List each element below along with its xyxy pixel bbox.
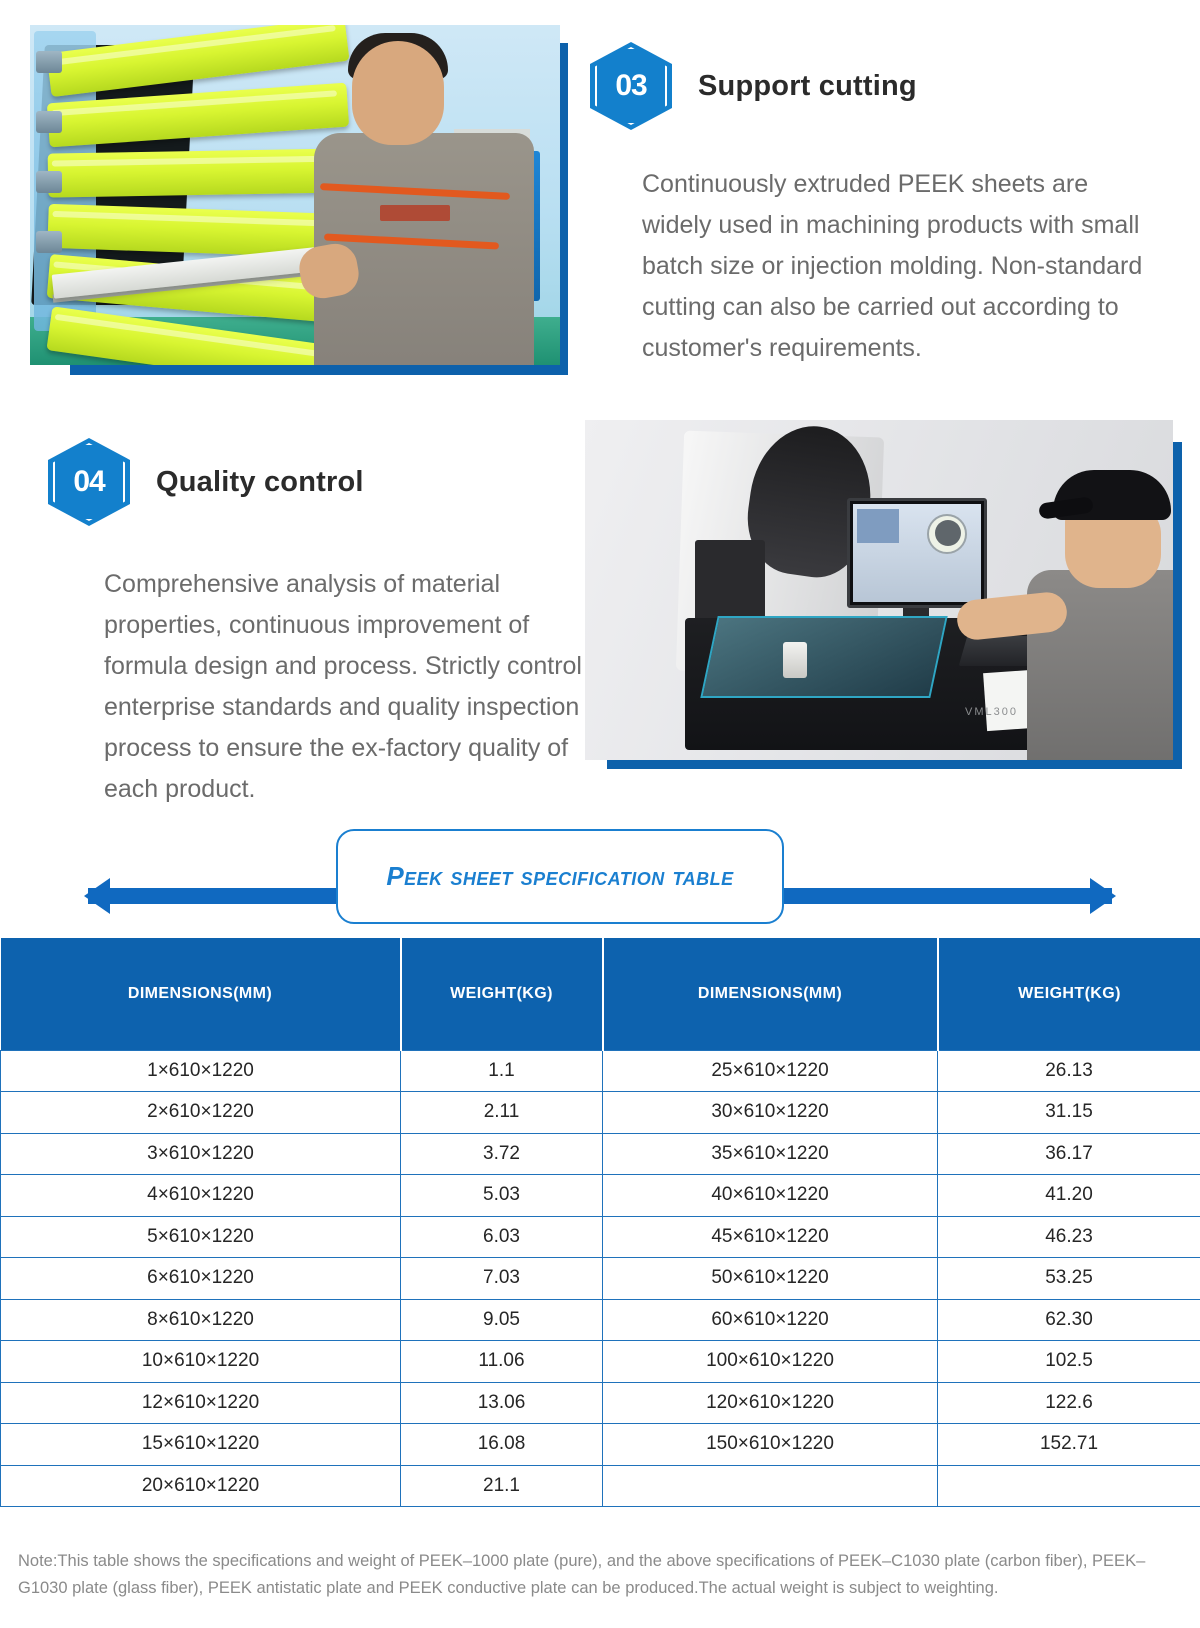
photo-screen-part xyxy=(935,520,961,546)
column-header-weight-2: WEIGHT(KG) xyxy=(938,938,1200,1050)
table-cell-col-1: 3×610×1220 xyxy=(1,1133,401,1175)
table-header-row: DIMENSIONS(MM) WEIGHT(KG) DIMENSIONS(MM)… xyxy=(1,938,1200,1050)
photo-screen-window xyxy=(857,509,899,543)
table-row: 5×610×12206.0345×610×122046.23 xyxy=(1,1216,1200,1258)
table-cell-col-3: 35×610×1220 xyxy=(603,1133,938,1175)
photo-monitor-screen xyxy=(853,504,981,602)
table-row: 8×610×12209.0560×610×122062.30 xyxy=(1,1299,1200,1341)
table-row: 3×610×12203.7235×610×122036.17 xyxy=(1,1133,1200,1175)
table-cell-col-1: 4×610×1220 xyxy=(1,1175,401,1217)
column-header-dimensions-2: DIMENSIONS(MM) xyxy=(603,938,938,1050)
table-cell-col-4: 102.5 xyxy=(938,1341,1200,1383)
section-03-heading-row: 03 Support cutting xyxy=(590,42,1170,130)
step-badge-03: 03 xyxy=(590,42,672,130)
section-03-title: Support cutting xyxy=(698,70,917,103)
table-cell-col-2: 6.03 xyxy=(401,1216,603,1258)
photo-slab xyxy=(47,83,349,148)
table-cell-col-1: 15×610×1220 xyxy=(1,1424,401,1466)
arrow-right-icon xyxy=(1090,878,1116,914)
table-cell-col-1: 8×610×1220 xyxy=(1,1299,401,1341)
table-cell-col-3: 25×610×1220 xyxy=(603,1050,938,1092)
section-03-text: 03 Support cutting Continuously extruded… xyxy=(590,42,1170,369)
table-cell-col-4: 41.20 xyxy=(938,1175,1200,1217)
photo-sample-part xyxy=(783,642,807,678)
photo-worker xyxy=(310,33,540,365)
table-cell-col-3: 100×610×1220 xyxy=(603,1341,938,1383)
photo-clip xyxy=(36,111,62,133)
section-04-text: 04 Quality control Comprehensive analysi… xyxy=(48,438,608,810)
table-cell-col-3: 120×610×1220 xyxy=(603,1382,938,1424)
photo-quality-control: VML300 xyxy=(585,420,1173,760)
table-cell-col-3: 30×610×1220 xyxy=(603,1092,938,1134)
photo-inspector xyxy=(1009,460,1173,760)
table-row: 6×610×12207.0350×610×122053.25 xyxy=(1,1258,1200,1300)
photo-clip xyxy=(36,51,62,73)
table-cell-col-2: 11.06 xyxy=(401,1341,603,1383)
table-cell-col-1: 12×610×1220 xyxy=(1,1382,401,1424)
section-quality-control: 04 Quality control Comprehensive analysi… xyxy=(0,408,1200,808)
table-cell-col-3: 50×610×1220 xyxy=(603,1258,938,1300)
table-cell-col-4: 122.6 xyxy=(938,1382,1200,1424)
section-04-body: Comprehensive analysis of material prope… xyxy=(104,564,584,810)
banner-title: Peek sheet specification table xyxy=(386,861,733,892)
column-header-dimensions-1: DIMENSIONS(MM) xyxy=(1,938,401,1050)
section-03-body: Continuously extruded PEEK sheets are wi… xyxy=(642,164,1162,369)
table-cell-col-1: 5×610×1220 xyxy=(1,1216,401,1258)
photo-uniform-logo xyxy=(380,205,450,221)
table-cell-col-4: 152.71 xyxy=(938,1424,1200,1466)
section-support-cutting: 03 Support cutting Continuously extruded… xyxy=(0,0,1200,400)
photo-support-cutting-wrapper xyxy=(30,25,560,365)
table-row: 20×610×122021.1 xyxy=(1,1465,1200,1507)
table-cell-col-1: 1×610×1220 xyxy=(1,1050,401,1092)
table-row: 10×610×122011.06100×610×1220102.5 xyxy=(1,1341,1200,1383)
table-cell-col-4: 31.15 xyxy=(938,1092,1200,1134)
table-cell-col-2: 2.11 xyxy=(401,1092,603,1134)
table-cell-col-1: 10×610×1220 xyxy=(1,1341,401,1383)
photo-clip xyxy=(36,231,62,253)
table-note: Note:This table shows the specifications… xyxy=(18,1548,1188,1602)
photo-glass-stage xyxy=(700,616,947,698)
step-number: 03 xyxy=(590,42,672,130)
column-header-weight-1: WEIGHT(KG) xyxy=(401,938,603,1050)
table-cell-col-1: 2×610×1220 xyxy=(1,1092,401,1134)
product-spec-page: 03 Support cutting Continuously extruded… xyxy=(0,0,1200,1628)
table-cell-col-4: 62.30 xyxy=(938,1299,1200,1341)
table-cell-col-2: 5.03 xyxy=(401,1175,603,1217)
table-cell-col-4: 46.23 xyxy=(938,1216,1200,1258)
photo-support-cutting xyxy=(30,25,560,365)
table-cell-col-3 xyxy=(603,1465,938,1507)
table-cell-col-3: 40×610×1220 xyxy=(603,1175,938,1217)
table-cell-col-2: 1.1 xyxy=(401,1050,603,1092)
table-row: 15×610×122016.08150×610×1220152.71 xyxy=(1,1424,1200,1466)
table-cell-col-2: 16.08 xyxy=(401,1424,603,1466)
photo-monitor xyxy=(847,498,987,608)
table-body: 1×610×12201.125×610×122026.132×610×12202… xyxy=(1,1050,1200,1507)
photo-quality-control-wrapper: VML300 xyxy=(585,420,1173,760)
table-row: 4×610×12205.0340×610×122041.20 xyxy=(1,1175,1200,1217)
photo-worker-head xyxy=(352,41,444,145)
table-cell-col-3: 150×610×1220 xyxy=(603,1424,938,1466)
photo-slab xyxy=(48,148,349,197)
step-badge-04: 04 xyxy=(48,438,130,526)
table-cell-col-2: 13.06 xyxy=(401,1382,603,1424)
table-cell-col-2: 3.72 xyxy=(401,1133,603,1175)
table-row: 1×610×12201.125×610×122026.13 xyxy=(1,1050,1200,1092)
step-number: 04 xyxy=(48,438,130,526)
table-cell-col-4: 26.13 xyxy=(938,1050,1200,1092)
table-cell-col-4: 36.17 xyxy=(938,1133,1200,1175)
table-row: 12×610×122013.06120×610×1220122.6 xyxy=(1,1382,1200,1424)
table-cell-col-3: 45×610×1220 xyxy=(603,1216,938,1258)
table-cell-col-3: 60×610×1220 xyxy=(603,1299,938,1341)
banner-title-box: Peek sheet specification table xyxy=(336,829,784,924)
table-cell-col-2: 7.03 xyxy=(401,1258,603,1300)
table-cell-col-2: 21.1 xyxy=(401,1465,603,1507)
table-cell-col-1: 6×610×1220 xyxy=(1,1258,401,1300)
table-row: 2×610×12202.1130×610×122031.15 xyxy=(1,1092,1200,1134)
spec-table: DIMENSIONS(MM) WEIGHT(KG) DIMENSIONS(MM)… xyxy=(0,938,1200,1507)
table-cell-col-1: 20×610×1220 xyxy=(1,1465,401,1507)
table-cell-col-4 xyxy=(938,1465,1200,1507)
table-cell-col-4: 53.25 xyxy=(938,1258,1200,1300)
table-cell-col-2: 9.05 xyxy=(401,1299,603,1341)
section-04-title: Quality control xyxy=(156,466,364,499)
photo-clip xyxy=(36,171,62,193)
section-04-heading-row: 04 Quality control xyxy=(48,438,608,526)
